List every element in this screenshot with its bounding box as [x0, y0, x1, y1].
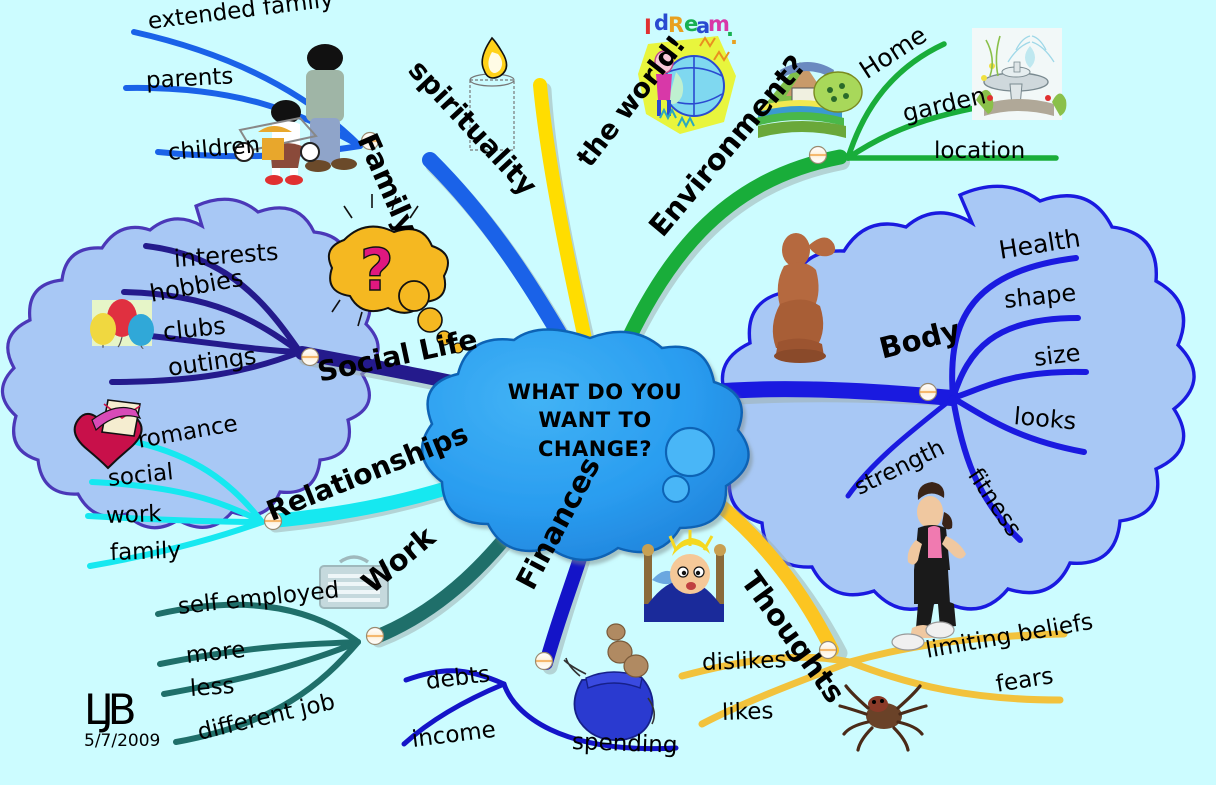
- mind-map-canvas: I d R e a m . .: [0, 0, 1216, 785]
- sub-label-relationships-family[interactable]: family: [110, 538, 182, 566]
- signature-monogram: LJB: [84, 690, 160, 730]
- sub-label-likes[interactable]: likes: [722, 698, 774, 726]
- spider-image: [840, 686, 926, 750]
- money-bag-image: [564, 624, 654, 740]
- svg-text:?: ?: [360, 236, 394, 304]
- node-work: [367, 628, 384, 645]
- sub-label-dislikes[interactable]: dislikes: [702, 647, 787, 676]
- family-pushing-pram-image: [235, 44, 357, 185]
- page-title: WHAT DO YOU WANT TO CHANGE?: [470, 378, 720, 463]
- sub-label-less[interactable]: less: [189, 673, 235, 702]
- signature-date: 5/7/2009: [84, 731, 160, 751]
- node-finances: [536, 653, 553, 670]
- sub-label-size[interactable]: size: [1032, 338, 1082, 371]
- node-environment: [810, 147, 827, 164]
- sub-label-relationships-work[interactable]: work: [106, 501, 163, 529]
- sub-label-location[interactable]: location: [934, 138, 1025, 164]
- center-title-line-2: WANT TO: [470, 406, 720, 434]
- sub-label-parents[interactable]: parents: [145, 63, 234, 94]
- sub-label-spending[interactable]: spending: [572, 729, 678, 759]
- svg-text:.: .: [730, 25, 738, 49]
- svg-text:I: I: [644, 15, 652, 39]
- node-body: [920, 384, 937, 401]
- artist-signature: LJB 5/7/2009: [84, 690, 160, 751]
- center-title-line-1: WHAT DO YOU: [470, 378, 720, 406]
- balloons-image: [90, 299, 154, 348]
- sub-label-looks[interactable]: looks: [1013, 402, 1078, 435]
- center-title-line-3: CHANGE?: [470, 435, 720, 463]
